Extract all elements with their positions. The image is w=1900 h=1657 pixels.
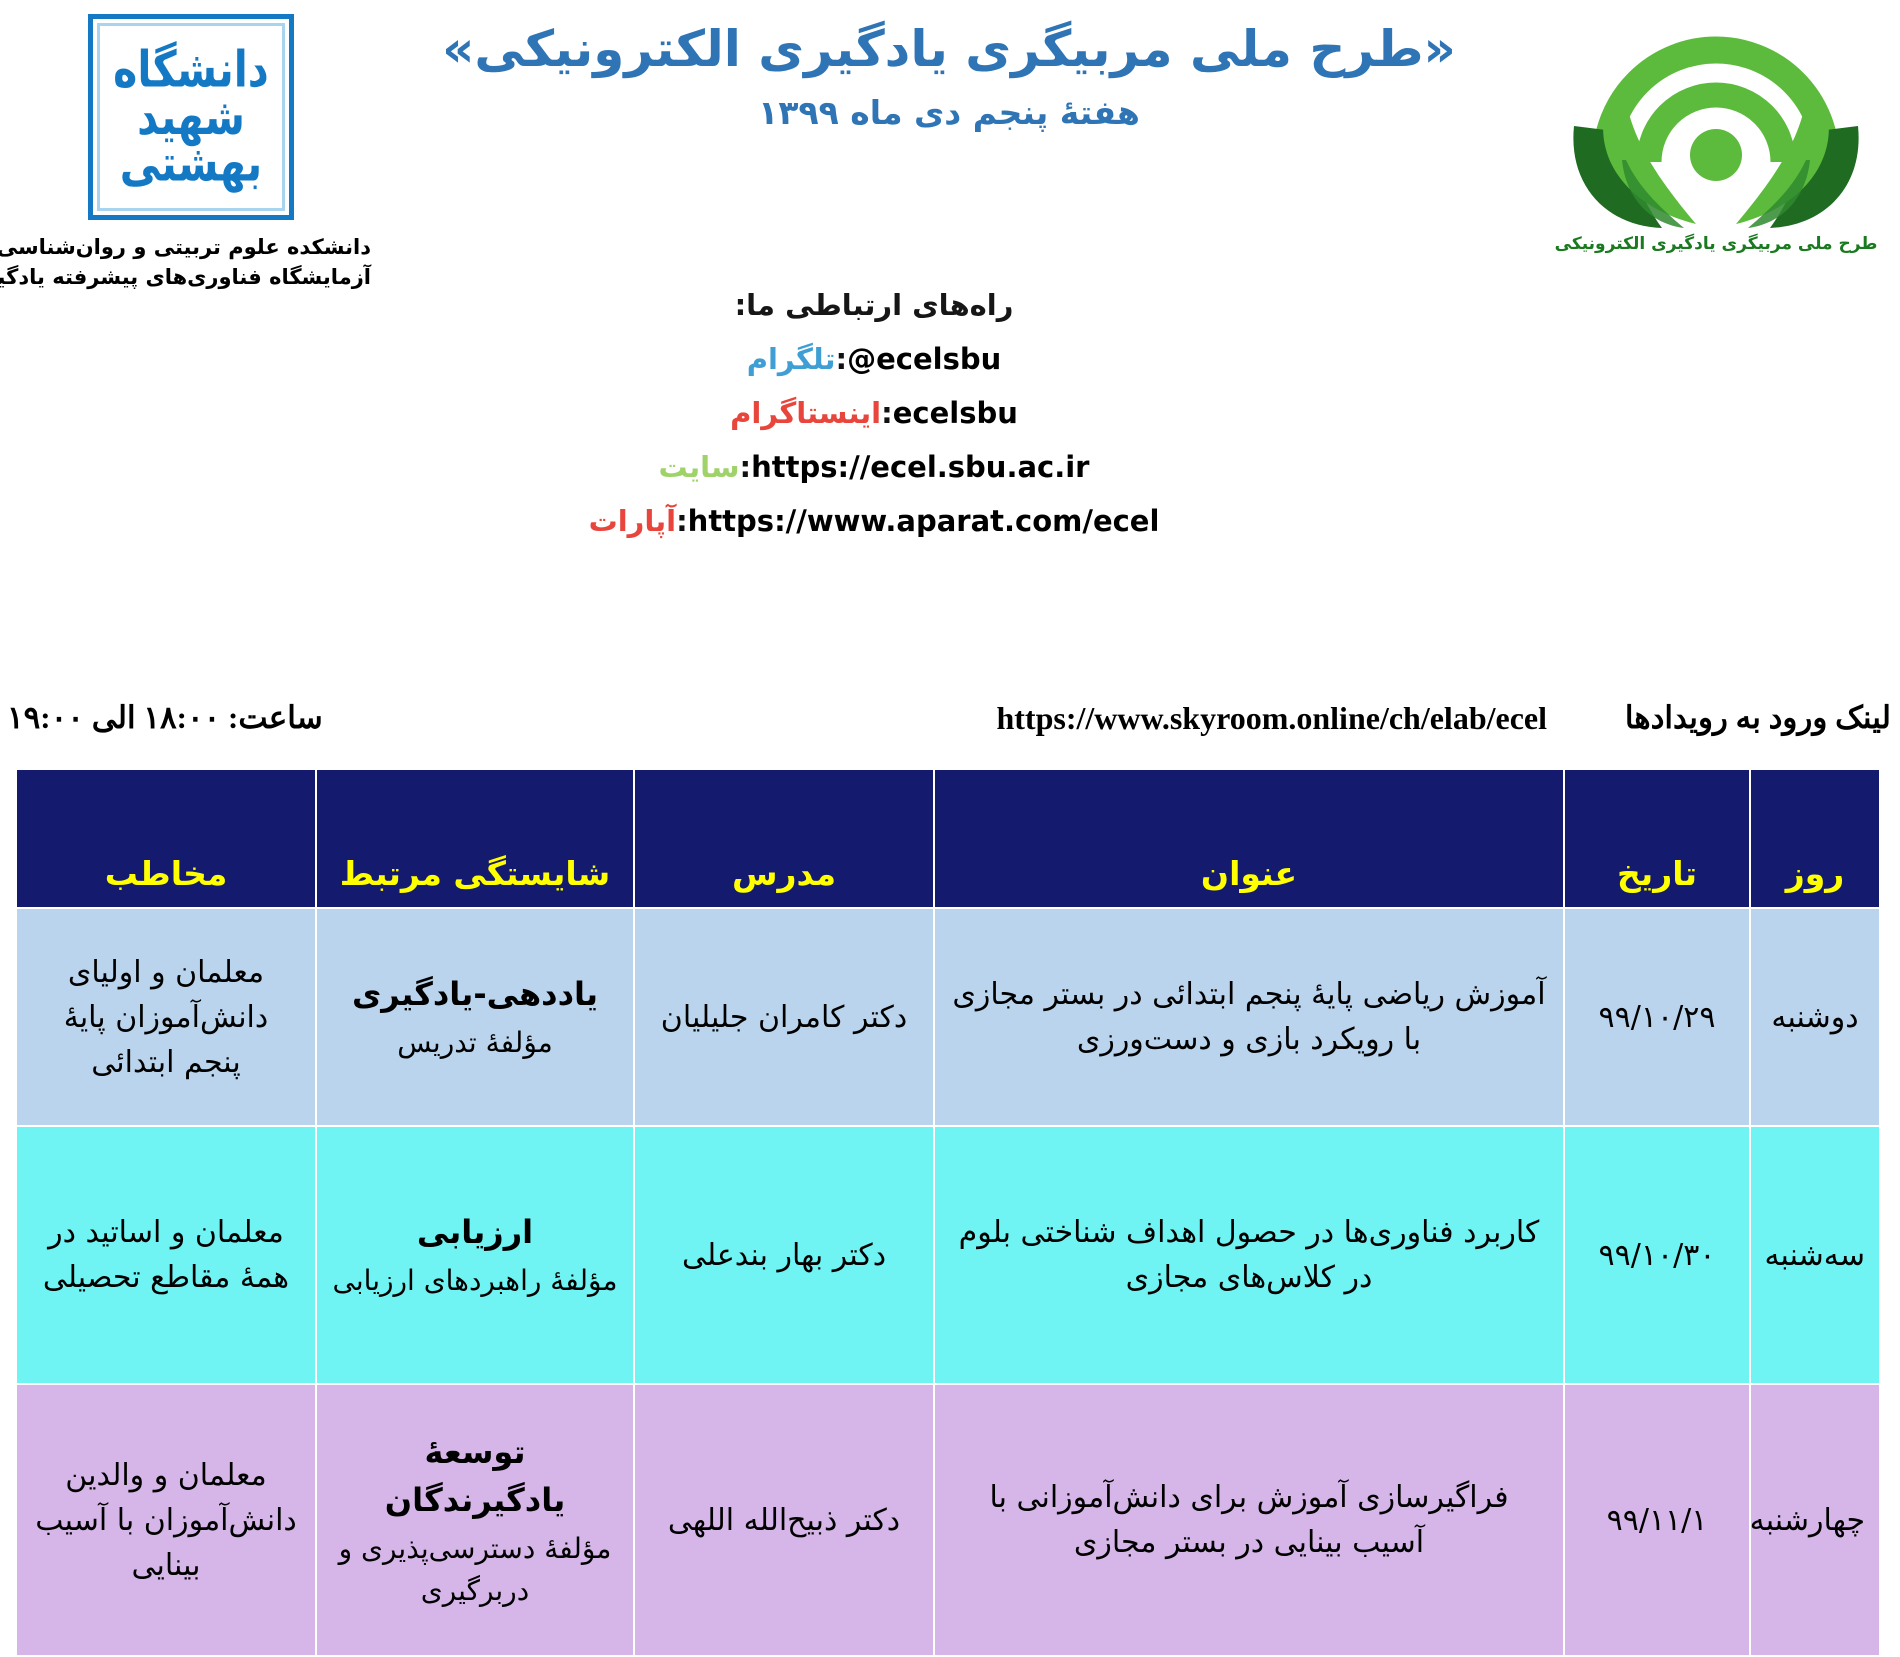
contact-section: راه‌های ارتباطی ما: @ecelsbu:تلگرام ecel… xyxy=(0,288,1900,558)
cell-teacher: دکتر کامران جلیلیان xyxy=(635,908,935,1126)
sbu-logo-calligraphy: دانشگاه شهید بهشتی xyxy=(94,42,290,193)
cell-competency: ارزیابی مؤلفهٔ راهبردهای ارزیابی xyxy=(317,1126,635,1384)
cell-audience: معلمان و اساتید در همهٔ مقاطع تحصیلی xyxy=(17,1126,317,1384)
ecel-logo xyxy=(1567,10,1867,232)
table-row: سه‌شنبه ۹۹/۱۰/۳۰ کاربرد فناوری‌ها در حصو… xyxy=(17,1126,1881,1384)
event-link-bar: لینک ورود به رویدادها https://www.skyroo… xyxy=(0,700,1900,764)
competency-main: یاددهی-یادگیری xyxy=(332,970,620,1018)
cell-audience: معلمان و والدین دانش‌آموزان با آسیب بینا… xyxy=(17,1384,317,1656)
contact-separator: : xyxy=(882,396,894,430)
contact-instagram: ecelsbu:اینستاگرام xyxy=(0,396,1900,430)
column-header-competency: شایستگی مرتبط xyxy=(317,769,635,908)
cell-date: ۹۹/۱۰/۲۹ xyxy=(1565,908,1751,1126)
table-row: دوشنبه ۹۹/۱۰/۲۹ آموزش ریاضی پایهٔ پنجم ا… xyxy=(17,908,1881,1126)
cell-title: کاربرد فناوری‌ها در حصول اهداف شناختی بل… xyxy=(935,1126,1565,1384)
event-link-url[interactable]: https://www.skyroom.online/ch/elab/ecel xyxy=(997,700,1548,736)
faculty-name-line: دانشکده علوم تربیتی و روان‌شناسی xyxy=(12,232,372,262)
page-subtitle: هفتهٔ پنجم دی ماه ۱۳۹۹ xyxy=(420,93,1480,132)
cell-title: فراگیرسازی آموزش برای دانش‌آموزانی با آس… xyxy=(935,1384,1565,1656)
cell-date: ۹۹/۱۰/۳۰ xyxy=(1565,1126,1751,1384)
column-header-audience: مخاطب xyxy=(17,769,317,908)
competency-sub: مؤلفهٔ راهبردهای ارزیابی xyxy=(332,1260,620,1302)
contact-instagram-value[interactable]: ecelsbu xyxy=(894,396,1019,430)
title-block: «طرح ملی مربیگری یادگیری الکترونیکی» هفت… xyxy=(420,18,1480,132)
cell-title: آموزش ریاضی پایهٔ پنجم ابتدائی در بستر م… xyxy=(935,908,1565,1126)
column-header-date: تاریخ xyxy=(1565,769,1751,908)
cell-audience: معلمان و اولیای دانش‌آموزان پایهٔ پنجم ا… xyxy=(17,908,317,1126)
contact-instagram-label: اینستاگرام xyxy=(731,396,882,430)
cell-competency: یاددهی-یادگیری مؤلفهٔ تدریس xyxy=(317,908,635,1126)
cell-day: سه‌شنبه xyxy=(1751,1126,1881,1384)
contact-website-value[interactable]: https://ecel.sbu.ac.ir xyxy=(752,450,1090,484)
cell-teacher: دکتر بهار بندعلی xyxy=(635,1126,935,1384)
event-link-label: لینک ورود به رویدادها xyxy=(1626,700,1892,736)
contact-separator: : xyxy=(741,450,753,484)
page-title: «طرح ملی مربیگری یادگیری الکترونیکی» xyxy=(420,18,1480,81)
university-branding: دانشگاه شهید بهشتی دانشکده علوم تربیتی و… xyxy=(12,14,372,293)
competency-main: ارزیابی xyxy=(332,1208,620,1256)
event-time-label: ساعت: ۱۸:۰۰ الی ۱۹:۰۰ xyxy=(8,700,324,736)
ecel-branding: طرح ملی مربیگری یادگیری الکترونیکی xyxy=(1552,10,1882,254)
contact-heading: راه‌های ارتباطی ما: xyxy=(0,288,1900,322)
cell-day: چهارشنبه xyxy=(1751,1384,1881,1656)
cell-competency: توسعهٔ یادگیرندگان مؤلفهٔ دسترسی‌پذیری و… xyxy=(317,1384,635,1656)
competency-sub: مؤلفهٔ دسترسی‌پذیری و دربرگیری xyxy=(332,1528,620,1612)
column-header-title: عنوان xyxy=(935,769,1565,908)
schedule-table: روز تاریخ عنوان مدرس شایستگی مرتبط مخاطب… xyxy=(16,768,1882,1657)
contact-website: https://ecel.sbu.ac.ir:سایت xyxy=(0,450,1900,484)
contact-telegram-label: تلگرام xyxy=(748,342,837,376)
faculty-caption: دانشکده علوم تربیتی و روان‌شناسی آزمایشگ… xyxy=(12,232,372,293)
poster-page: دانشگاه شهید بهشتی دانشکده علوم تربیتی و… xyxy=(0,0,1900,1620)
contact-telegram-value[interactable]: @ecelsbu xyxy=(848,342,1002,376)
contact-website-label: سایت xyxy=(660,450,741,484)
contact-aparat-label: آپارات xyxy=(590,504,678,538)
competency-main: توسعهٔ یادگیرندگان xyxy=(332,1428,620,1524)
cell-day: دوشنبه xyxy=(1751,908,1881,1126)
contact-telegram: @ecelsbu:تلگرام xyxy=(0,342,1900,376)
contact-aparat-value[interactable]: https://www.aparat.com/ecel xyxy=(689,504,1161,538)
cell-date: ۹۹/۱۱/۱ xyxy=(1565,1384,1751,1656)
contact-aparat: https://www.aparat.com/ecel:آپارات xyxy=(0,504,1900,538)
table-row: چهارشنبه ۹۹/۱۱/۱ فراگیرسازی آموزش برای د… xyxy=(17,1384,1881,1656)
column-header-teacher: مدرس xyxy=(635,769,935,908)
competency-sub: مؤلفهٔ تدریس xyxy=(332,1022,620,1064)
column-header-day: روز xyxy=(1751,769,1881,908)
contact-separator: : xyxy=(837,342,849,376)
ecel-logo-caption: طرح ملی مربیگری یادگیری الکترونیکی xyxy=(1552,234,1882,254)
sbu-logo: دانشگاه شهید بهشتی xyxy=(89,14,295,220)
cell-teacher: دکتر ذبیح‌الله اللهی xyxy=(635,1384,935,1656)
table-header-row: روز تاریخ عنوان مدرس شایستگی مرتبط مخاطب xyxy=(17,769,1881,908)
contact-separator: : xyxy=(677,504,689,538)
